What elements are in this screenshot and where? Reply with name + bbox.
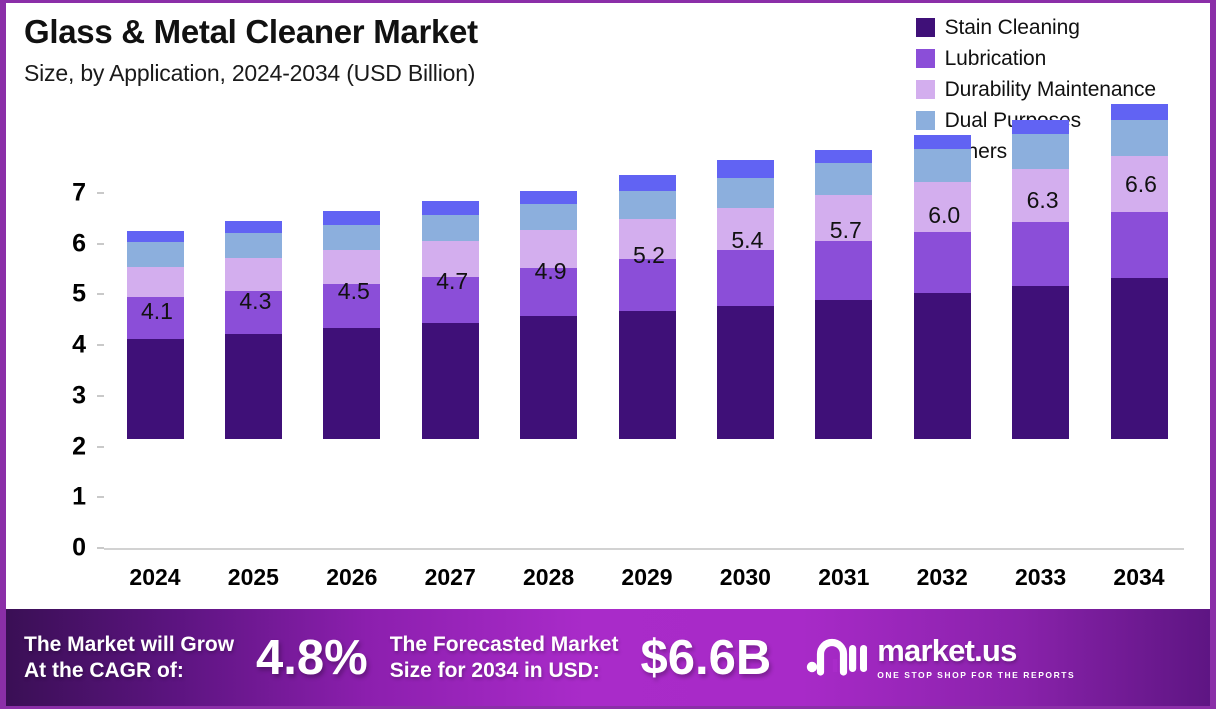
bar-stack[interactable] xyxy=(520,191,577,439)
market-us-logo-icon xyxy=(805,633,867,682)
y-axis-tick-mark xyxy=(97,293,104,295)
bar-stack[interactable] xyxy=(914,135,971,439)
bar-stack[interactable] xyxy=(422,201,479,439)
bar-segment[interactable] xyxy=(914,232,971,293)
bar-value-label: 4.7 xyxy=(407,268,497,295)
bar-segment[interactable] xyxy=(225,221,282,233)
y-axis-tick-mark xyxy=(97,395,104,397)
plot-area: 01234567 4.14.34.54.74.95.25.45.76.06.36… xyxy=(6,3,1210,603)
x-axis-tick-label: 2027 xyxy=(395,564,505,591)
bar-segment[interactable] xyxy=(127,231,184,242)
y-axis-tick-mark xyxy=(97,344,104,346)
y-axis-tick-mark xyxy=(97,243,104,245)
y-axis-tick-mark xyxy=(97,496,104,498)
bar-segment[interactable] xyxy=(422,323,479,439)
x-axis-tick-label: 2026 xyxy=(297,564,407,591)
bar-segment[interactable] xyxy=(127,339,184,439)
bar-segment[interactable] xyxy=(717,306,774,439)
bar-segment[interactable] xyxy=(717,160,774,178)
cagr-caption: The Market will Grow At the CAGR of: xyxy=(24,632,234,683)
x-axis-tick-label: 2024 xyxy=(100,564,210,591)
bar-segment[interactable] xyxy=(520,191,577,204)
bar-segment[interactable] xyxy=(914,135,971,149)
bar-stack[interactable] xyxy=(619,175,676,439)
bar-segment[interactable] xyxy=(520,316,577,439)
x-axis-tick-label: 2028 xyxy=(494,564,604,591)
bar-segment[interactable] xyxy=(815,241,872,299)
bar-segment[interactable] xyxy=(1012,120,1069,134)
y-axis-tick-label: 2 xyxy=(46,432,86,461)
bar-segment[interactable] xyxy=(1012,134,1069,170)
x-axis-tick-label: 2029 xyxy=(592,564,702,591)
bar-segment[interactable] xyxy=(422,201,479,215)
bar-segment[interactable] xyxy=(1111,104,1168,119)
bar-segment[interactable] xyxy=(520,204,577,230)
bar-segment[interactable] xyxy=(914,149,971,182)
bar-stack[interactable] xyxy=(323,211,380,439)
bar-segment[interactable] xyxy=(225,233,282,258)
bar-segment[interactable] xyxy=(422,215,479,241)
bar-segment[interactable] xyxy=(1012,222,1069,286)
bar-stack[interactable] xyxy=(815,150,872,439)
bar-value-label: 6.3 xyxy=(998,187,1088,214)
bar-value-label: 4.5 xyxy=(309,278,399,305)
forecast-caption-line1: The Forecasted Market xyxy=(390,632,619,658)
bar-value-label: 6.0 xyxy=(899,202,989,229)
bar-stack[interactable] xyxy=(127,231,184,439)
bar-value-label: 4.3 xyxy=(210,288,300,315)
bar-segment[interactable] xyxy=(717,250,774,306)
x-axis-line xyxy=(104,548,1184,550)
forecast-caption: The Forecasted Market Size for 2034 in U… xyxy=(390,632,619,683)
bar-segment[interactable] xyxy=(619,175,676,190)
x-axis-tick-label: 2031 xyxy=(789,564,899,591)
bar-segment[interactable] xyxy=(815,150,872,163)
cagr-caption-line2: At the CAGR of: xyxy=(24,658,234,684)
x-axis-tick-label: 2033 xyxy=(986,564,1096,591)
bar-segment[interactable] xyxy=(127,267,184,297)
y-axis-tick-label: 5 xyxy=(46,280,86,309)
x-axis-tick-label: 2032 xyxy=(887,564,997,591)
bar-segment[interactable] xyxy=(225,334,282,439)
y-axis-tick-mark xyxy=(97,547,104,549)
bar-value-label: 5.2 xyxy=(604,242,694,269)
bar-value-label: 5.4 xyxy=(702,227,792,254)
bar-value-label: 4.9 xyxy=(506,258,596,285)
bar-segment[interactable] xyxy=(323,328,380,439)
y-axis-tick-label: 4 xyxy=(46,331,86,360)
logo-name: market.us xyxy=(877,635,1075,666)
logo-tagline: ONE STOP SHOP FOR THE REPORTS xyxy=(877,670,1075,680)
bottom-banner: The Market will Grow At the CAGR of: 4.8… xyxy=(6,609,1210,706)
cagr-value: 4.8% xyxy=(256,630,368,686)
x-axis-tick-label: 2025 xyxy=(198,564,308,591)
bar-segment[interactable] xyxy=(225,258,282,290)
bar-segment[interactable] xyxy=(1111,212,1168,278)
bar-stack[interactable] xyxy=(1111,104,1168,439)
forecast-value: $6.6B xyxy=(640,630,771,686)
bar-segment[interactable] xyxy=(323,225,380,250)
bar-stack[interactable] xyxy=(1012,120,1069,439)
bar-stack[interactable] xyxy=(717,160,774,439)
chart-page: Glass & Metal Cleaner Market Size, by Ap… xyxy=(0,0,1216,709)
bar-value-label: 4.1 xyxy=(112,298,202,325)
bar-value-label: 6.6 xyxy=(1096,171,1186,198)
bar-segment[interactable] xyxy=(914,293,971,439)
y-axis-tick-label: 6 xyxy=(46,229,86,258)
bar-segment[interactable] xyxy=(815,163,872,194)
y-axis-tick-label: 3 xyxy=(46,381,86,410)
bar-segment[interactable] xyxy=(127,242,184,266)
y-axis-tick-label: 7 xyxy=(46,179,86,208)
bar-segment[interactable] xyxy=(1111,120,1168,157)
bar-segment[interactable] xyxy=(1012,286,1069,439)
market-us-logo[interactable]: market.us ONE STOP SHOP FOR THE REPORTS xyxy=(805,633,1075,682)
y-axis-tick-mark xyxy=(97,192,104,194)
y-axis-tick-label: 1 xyxy=(46,483,86,512)
bar-segment[interactable] xyxy=(1111,278,1168,439)
bar-segment[interactable] xyxy=(323,211,380,225)
bar-segment[interactable] xyxy=(619,311,676,439)
cagr-caption-line1: The Market will Grow xyxy=(24,632,234,658)
y-axis-tick-mark xyxy=(97,446,104,448)
bar-segment[interactable] xyxy=(717,178,774,207)
forecast-caption-line2: Size for 2034 in USD: xyxy=(390,658,619,684)
x-axis-tick-label: 2030 xyxy=(690,564,800,591)
bar-segment[interactable] xyxy=(619,191,676,219)
y-axis-tick-label: 0 xyxy=(46,534,86,563)
x-axis-tick-label: 2034 xyxy=(1084,564,1194,591)
logo-text: market.us ONE STOP SHOP FOR THE REPORTS xyxy=(877,635,1075,680)
bar-segment[interactable] xyxy=(815,300,872,439)
bar-value-label: 5.7 xyxy=(801,217,891,244)
bar-stack[interactable] xyxy=(225,221,282,439)
